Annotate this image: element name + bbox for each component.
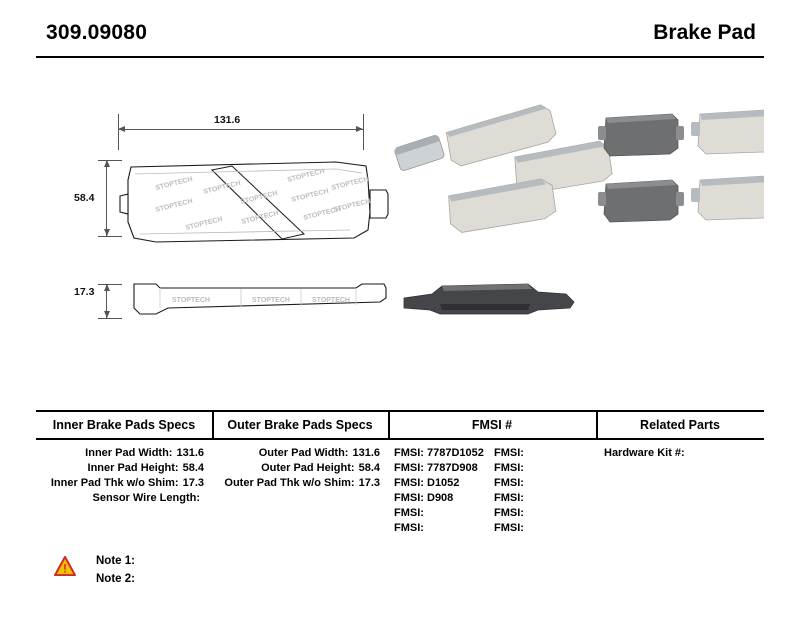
fmsi-row: FMSI: <box>494 461 594 476</box>
svg-text:STOPTECH: STOPTECH <box>312 297 350 304</box>
document-page: 309.09080 Brake Pad 131.6 58.4 17.3 <box>0 0 800 619</box>
fmsi-column-right: FMSI: FMSI: FMSI: FMSI: FMSI: FMSI: <box>494 446 594 536</box>
part-number: 309.09080 <box>46 21 147 45</box>
document-header: 309.09080 Brake Pad <box>36 18 764 58</box>
outer-specs-cell: Outer Pad Width: 131.6 Outer Pad Height:… <box>212 440 388 536</box>
pad-line-drawing: STOPTECH STOPTECH STOPTECH STOPTECH STOP… <box>36 62 764 392</box>
hardware-kit-row: Hardware Kit #: <box>596 446 764 461</box>
fmsi-row: FMSI: 7787D908 <box>394 461 494 476</box>
inner-pad-width-value: 131.6 <box>172 446 204 461</box>
spec-table-body-row: Inner Pad Width: 131.6 Inner Pad Height:… <box>36 440 764 536</box>
inner-pad-height-row: Inner Pad Height: 58.4 <box>36 461 212 476</box>
outer-pad-width-label: Outer Pad Width: <box>259 446 349 461</box>
note-1-row: Note 1: <box>54 552 354 570</box>
page-title: Brake Pad <box>653 21 756 45</box>
inner-pad-thickness-row: Inner Pad Thk w/o Shim: 17.3 <box>36 476 212 491</box>
svg-text:!: ! <box>63 561 67 575</box>
inner-specs-cell: Inner Pad Width: 131.6 Inner Pad Height:… <box>36 440 212 536</box>
fmsi-row: FMSI: D908 <box>394 491 494 506</box>
header-related-parts: Related Parts <box>596 412 764 438</box>
header-outer-brake-pads-specs: Outer Brake Pads Specs <box>212 412 388 438</box>
pad-edge-outline: STOPTECH STOPTECH STOPTECH <box>134 284 386 314</box>
fmsi-cell: FMSI: 7787D1052 FMSI: 7787D908 FMSI: D10… <box>388 440 596 536</box>
svg-text:STOPTECH: STOPTECH <box>252 297 290 304</box>
fmsi-row: FMSI: <box>394 506 494 521</box>
drawing-area: 131.6 58.4 17.3 <box>36 62 764 392</box>
warning-triangle-icon: ! <box>54 556 76 576</box>
header-fmsi: FMSI # <box>388 412 596 438</box>
fmsi-column-left: FMSI: 7787D1052 FMSI: 7787D908 FMSI: D10… <box>394 446 494 536</box>
header-inner-brake-pads-specs: Inner Brake Pads Specs <box>36 412 212 438</box>
sensor-wire-length-row: Sensor Wire Length: <box>36 491 212 506</box>
fmsi-row: FMSI: <box>494 446 594 461</box>
outer-pad-thickness-row: Outer Pad Thk w/o Shim: 17.3 <box>212 476 388 491</box>
notes-section: ! Note 1: Note 2: <box>54 552 354 588</box>
spec-table-header-row: Inner Brake Pads Specs Outer Brake Pads … <box>36 410 764 440</box>
outer-pad-height-value: 58.4 <box>355 461 380 476</box>
outer-pad-height-label: Outer Pad Height: <box>261 461 355 476</box>
fmsi-row: FMSI: <box>494 476 594 491</box>
related-parts-cell: Hardware Kit #: <box>596 440 764 536</box>
outer-pad-thickness-label: Outer Pad Thk w/o Shim: <box>224 476 354 491</box>
fmsi-row: FMSI: D1052 <box>394 476 494 491</box>
fmsi-row: FMSI: <box>494 491 594 506</box>
fmsi-row: FMSI: <box>394 521 494 536</box>
sensor-wire-length-value <box>200 491 204 506</box>
sensor-wire-length-label: Sensor Wire Length: <box>93 491 200 506</box>
fmsi-row: FMSI: <box>494 521 594 536</box>
outer-pad-thickness-value: 17.3 <box>355 476 380 491</box>
outer-pad-height-row: Outer Pad Height: 58.4 <box>212 461 388 476</box>
pad-photo-edge <box>404 284 574 314</box>
spec-table: Inner Brake Pads Specs Outer Brake Pads … <box>36 410 764 536</box>
inner-pad-height-label: Inner Pad Height: <box>88 461 179 476</box>
fmsi-row: FMSI: <box>494 506 594 521</box>
inner-pad-height-value: 58.4 <box>179 461 204 476</box>
outer-pad-width-row: Outer Pad Width: 131.6 <box>212 446 388 461</box>
pad-photo-group-left <box>394 103 613 234</box>
inner-pad-thickness-value: 17.3 <box>179 476 204 491</box>
inner-pad-width-row: Inner Pad Width: 131.6 <box>36 446 212 461</box>
pad-photo-group-right <box>598 110 764 222</box>
svg-text:STOPTECH: STOPTECH <box>172 297 210 304</box>
note-2-row: Note 2: <box>54 570 354 588</box>
inner-pad-thickness-label: Inner Pad Thk w/o Shim: <box>51 476 179 491</box>
inner-pad-width-label: Inner Pad Width: <box>85 446 172 461</box>
fmsi-row: FMSI: 7787D1052 <box>394 446 494 461</box>
outer-pad-width-value: 131.6 <box>348 446 380 461</box>
